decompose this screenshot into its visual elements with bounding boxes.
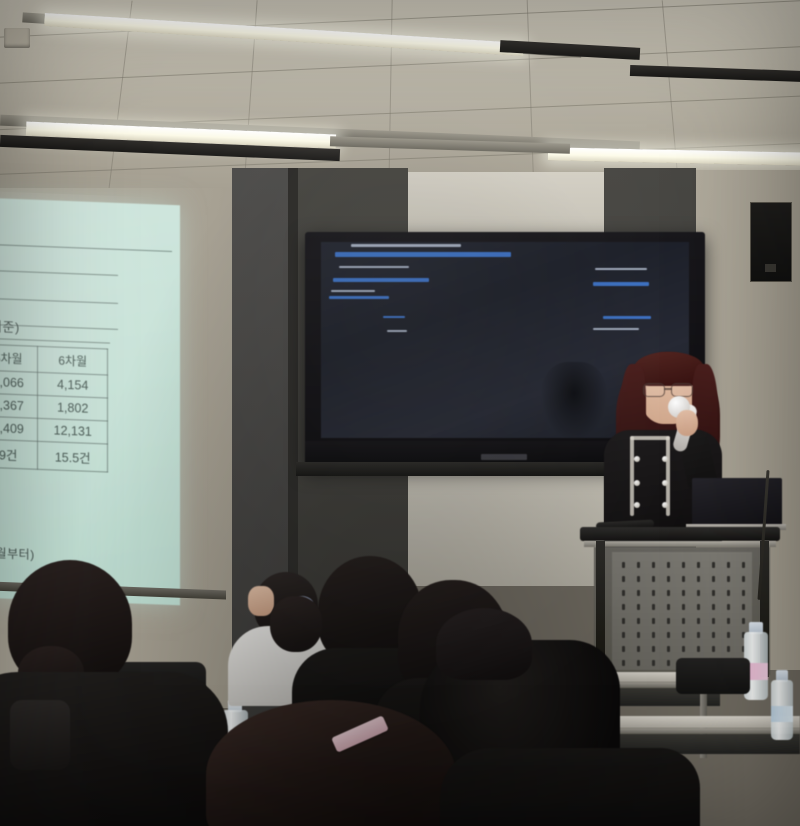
podium-perforation (637, 618, 640, 624)
water-bottle (771, 670, 793, 740)
table-col-header: 6차월 (38, 346, 108, 375)
podium-perforation (667, 646, 670, 652)
podium-perforation (682, 562, 685, 568)
table-cell: 12,131 (38, 418, 108, 444)
podium-perforation (697, 632, 700, 638)
lecture-hall-photo: 기준) 5차월 6차월 3,066 4,154 1,367 1,802 (0, 0, 800, 826)
podium-perforation (697, 562, 700, 568)
podium-perforation (697, 590, 700, 596)
slide-header-note: 기준) (0, 316, 20, 336)
wall-speaker-icon (750, 202, 792, 282)
table-cell: 1,367 (0, 393, 38, 418)
podium-perforation (712, 604, 715, 610)
tv-brand-logo (481, 454, 527, 460)
podium-perforation (667, 632, 670, 638)
podium-perforation (637, 646, 640, 652)
wall-beige-panel-lower (408, 466, 604, 586)
chair (676, 658, 750, 694)
podium-perforation (622, 576, 625, 582)
podium-perforation (637, 562, 640, 568)
podium-perforation (667, 576, 670, 582)
podium-top (580, 527, 780, 541)
podium-perforation (727, 618, 730, 624)
podium-perforation (712, 576, 715, 582)
podium-perforation (742, 576, 745, 582)
podium-perforation (682, 604, 685, 610)
podium-perforation (622, 660, 625, 666)
slide-table: 5차월 6차월 3,066 4,154 1,367 1,802 9,409 12… (0, 344, 108, 473)
podium-perforation (712, 646, 715, 652)
podium-perforation (622, 646, 625, 652)
podium-perforation (667, 562, 670, 568)
projected-slide: 기준) 5차월 6차월 3,066 4,154 1,367 1,802 (0, 198, 180, 605)
podium-perforation (667, 618, 670, 624)
ceiling-sensor-icon (4, 28, 30, 48)
podium-perforation (652, 618, 655, 624)
podium-perforation (622, 618, 625, 624)
podium-perforation (727, 604, 730, 610)
podium-perforation (667, 590, 670, 596)
podium-perforation (667, 660, 670, 666)
podium-perforation (652, 632, 655, 638)
podium-perforation (652, 562, 655, 568)
podium-perforated-panel (612, 552, 752, 670)
podium-perforation (652, 604, 655, 610)
podium-perforation (622, 604, 625, 610)
table-cell: 4,154 (38, 372, 108, 398)
podium-perforation (682, 632, 685, 638)
projection-screen: 기준) 5차월 6차월 3,066 4,154 1,367 1,802 (0, 198, 180, 605)
podium-perforation (637, 590, 640, 596)
podium-perforation (697, 646, 700, 652)
podium-perforation (712, 632, 715, 638)
table-row: 9건 15.5건 (0, 439, 108, 472)
podium-perforation (682, 646, 685, 652)
podium-perforation (652, 576, 655, 582)
table-cell: 9건 (0, 439, 38, 469)
podium-perforation (697, 576, 700, 582)
podium-perforation (697, 618, 700, 624)
podium-perforation (652, 646, 655, 652)
table-cell: 9,409 (0, 416, 38, 441)
podium-perforation (727, 562, 730, 568)
podium-perforation (622, 632, 625, 638)
table-col-header: 5차월 (0, 344, 38, 372)
table-cell: 1,802 (38, 395, 108, 421)
podium-perforation (682, 576, 685, 582)
podium-perforation (652, 660, 655, 666)
table-cell: 3,066 (0, 370, 38, 395)
podium-perforation (742, 590, 745, 596)
podium-perforation (622, 562, 625, 568)
slide-footer-note: 차월부터) (0, 544, 35, 563)
podium-perforation (712, 562, 715, 568)
eyeglasses-icon (643, 383, 693, 396)
ceiling-light-fixture (44, 13, 524, 56)
podium-perforation (727, 632, 730, 638)
podium-perforation (682, 590, 685, 596)
table-header-row: 5차월 6차월 (0, 344, 108, 375)
podium-perforation (712, 590, 715, 596)
table-cell: 15.5건 (38, 441, 108, 472)
podium-perforation (637, 576, 640, 582)
presenter-hand (676, 410, 698, 436)
podium-perforation (697, 604, 700, 610)
desk (600, 716, 800, 728)
podium-perforation (667, 604, 670, 610)
podium-perforation (637, 660, 640, 666)
ceiling (0, 0, 800, 190)
podium-perforation (727, 576, 730, 582)
podium-perforation (637, 632, 640, 638)
podium-perforation (727, 646, 730, 652)
podium-perforation (652, 590, 655, 596)
podium-perforation (637, 604, 640, 610)
podium-perforation (727, 590, 730, 596)
laptop (692, 478, 782, 526)
podium-perforation (622, 590, 625, 596)
podium-perforation (742, 562, 745, 568)
podium-perforation (682, 618, 685, 624)
podium-perforation (712, 618, 715, 624)
ceiling-light-fixture (548, 147, 800, 165)
podium-perforation (742, 604, 745, 610)
